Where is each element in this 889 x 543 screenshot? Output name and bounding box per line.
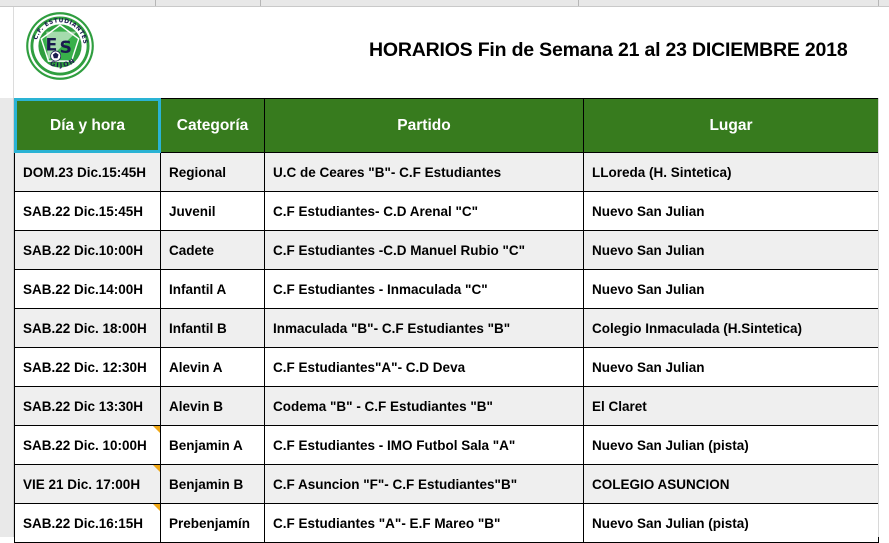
cell-categoria[interactable]: Benjamin A — [161, 426, 265, 465]
cell-dia[interactable]: SAB.22 Dic. 10:00H — [15, 426, 161, 465]
cell-partido[interactable]: Inmaculada "B"- C.F Estudiantes "B" — [265, 309, 584, 348]
cell-categoria[interactable]: Juvenil — [161, 192, 265, 231]
schedule-table: Día y horaCategoríaPartidoLugar DOM.23 D… — [14, 98, 879, 543]
cell-dia[interactable]: SAB.22 Dic.10:00H — [15, 231, 161, 270]
cell-lugar[interactable]: Nuevo San Julian — [584, 192, 879, 231]
table-row: SAB.22 Dic. 18:00HInfantil BInmaculada "… — [15, 309, 879, 348]
table-row: SAB.22 Dic 13:30HAlevin BCodema "B" - C.… — [15, 387, 879, 426]
table-row: SAB.22 Dic. 10:00HBenjamin AC.F Estudian… — [15, 426, 879, 465]
cell-dia[interactable]: SAB.22 Dic 13:30H — [15, 387, 161, 426]
column-header-partido[interactable]: Partido — [265, 99, 584, 153]
cell-partido[interactable]: C.F Estudiantes- C.D Arenal "C" — [265, 192, 584, 231]
cell-lugar[interactable]: Nuevo San Julian — [584, 348, 879, 387]
table-body: DOM.23 Dic.15:45HRegionalU.C de Ceares "… — [15, 153, 879, 543]
cell-lugar[interactable]: El Claret — [584, 387, 879, 426]
page-title: HORARIOS Fin de Semana 21 al 23 DICIEMBR… — [369, 39, 889, 62]
cell-partido[interactable]: C.F Estudiantes -C.D Manuel Rubio "C" — [265, 231, 584, 270]
cell-lugar[interactable]: Nuevo San Julian (pista) — [584, 426, 879, 465]
comment-marker-icon[interactable] — [153, 504, 160, 511]
cell-categoria[interactable]: Benjamin B — [161, 465, 265, 504]
cell-dia[interactable]: SAB.22 Dic.15:45H — [15, 192, 161, 231]
cell-categoria[interactable]: Infantil A — [161, 270, 265, 309]
cell-lugar[interactable]: Nuevo San Julian — [584, 270, 879, 309]
cell-lugar[interactable]: COLEGIO ASUNCION — [584, 465, 879, 504]
cell-partido[interactable]: Codema "B" - C.F Estudiantes "B" — [265, 387, 584, 426]
cell-categoria[interactable]: Alevin B — [161, 387, 265, 426]
right-edge-margin — [878, 98, 889, 537]
cell-partido[interactable]: C.F Estudiantes - Inmaculada "C" — [265, 270, 584, 309]
cell-categoria[interactable]: Cadete — [161, 231, 265, 270]
cell-categoria[interactable]: Regional — [161, 153, 265, 192]
cell-dia[interactable]: DOM.23 Dic.15:45H — [15, 153, 161, 192]
cell-dia[interactable]: SAB.22 Dic.14:00H — [15, 270, 161, 309]
column-divider-c-d[interactable] — [578, 0, 579, 6]
cell-categoria[interactable]: Alevin A — [161, 348, 265, 387]
title-banner: E S C.F. ESTUDIANTES DE SOMIO GIJON HORA… — [14, 7, 878, 98]
column-header-dia[interactable]: Día y hora — [15, 99, 161, 153]
cell-partido[interactable]: U.C de Ceares "B"- C.F Estudiantes — [265, 153, 584, 192]
table-row: SAB.22 Dic.10:00HCadeteC.F Estudiantes -… — [15, 231, 879, 270]
cell-partido[interactable]: C.F Estudiantes - IMO Futbol Sala "A" — [265, 426, 584, 465]
comment-marker-icon[interactable] — [153, 465, 160, 472]
svg-text:S: S — [60, 38, 72, 58]
cell-dia[interactable]: SAB.22 Dic. 18:00H — [15, 309, 161, 348]
spreadsheet-canvas: E S C.F. ESTUDIANTES DE SOMIO GIJON HORA… — [0, 0, 889, 537]
table-row: SAB.22 Dic.14:00HInfantil AC.F Estudiant… — [15, 270, 879, 309]
cell-lugar[interactable]: Colegio Inmaculada (H.Sintetica) — [584, 309, 879, 348]
table-row: VIE 21 Dic. 17:00HBenjamin BC.F Asuncion… — [15, 465, 879, 504]
comment-marker-icon[interactable] — [153, 426, 160, 433]
cell-partido[interactable]: C.F Estudiantes"A"- C.D Deva — [265, 348, 584, 387]
column-header-band — [0, 0, 889, 7]
row-header-gutter-top — [0, 7, 14, 98]
table-header-row: Día y horaCategoríaPartidoLugar — [15, 99, 879, 153]
club-crest-logo: E S C.F. ESTUDIANTES DE SOMIO GIJON — [24, 10, 96, 82]
column-header-categoria[interactable]: Categoría — [161, 99, 265, 153]
column-divider-a-b[interactable] — [155, 0, 156, 6]
column-divider-b-c[interactable] — [260, 0, 261, 6]
table-row: DOM.23 Dic.15:45HRegionalU.C de Ceares "… — [15, 153, 879, 192]
column-divider-d-e[interactable] — [878, 0, 879, 6]
table-row: SAB.22 Dic. 12:30HAlevin AC.F Estudiante… — [15, 348, 879, 387]
column-header-lugar[interactable]: Lugar — [584, 99, 879, 153]
cell-lugar[interactable]: LLoreda (H. Sintetica) — [584, 153, 879, 192]
cell-dia[interactable]: VIE 21 Dic. 17:00H — [15, 465, 161, 504]
cell-partido[interactable]: C.F Asuncion "F"- C.F Estudiantes"B" — [265, 465, 584, 504]
table-row: SAB.22 Dic.15:45HJuvenilC.F Estudiantes-… — [15, 192, 879, 231]
cell-dia[interactable]: SAB.22 Dic. 12:30H — [15, 348, 161, 387]
cell-lugar[interactable]: Nuevo San Julian — [584, 231, 879, 270]
cell-categoria[interactable]: Infantil B — [161, 309, 265, 348]
